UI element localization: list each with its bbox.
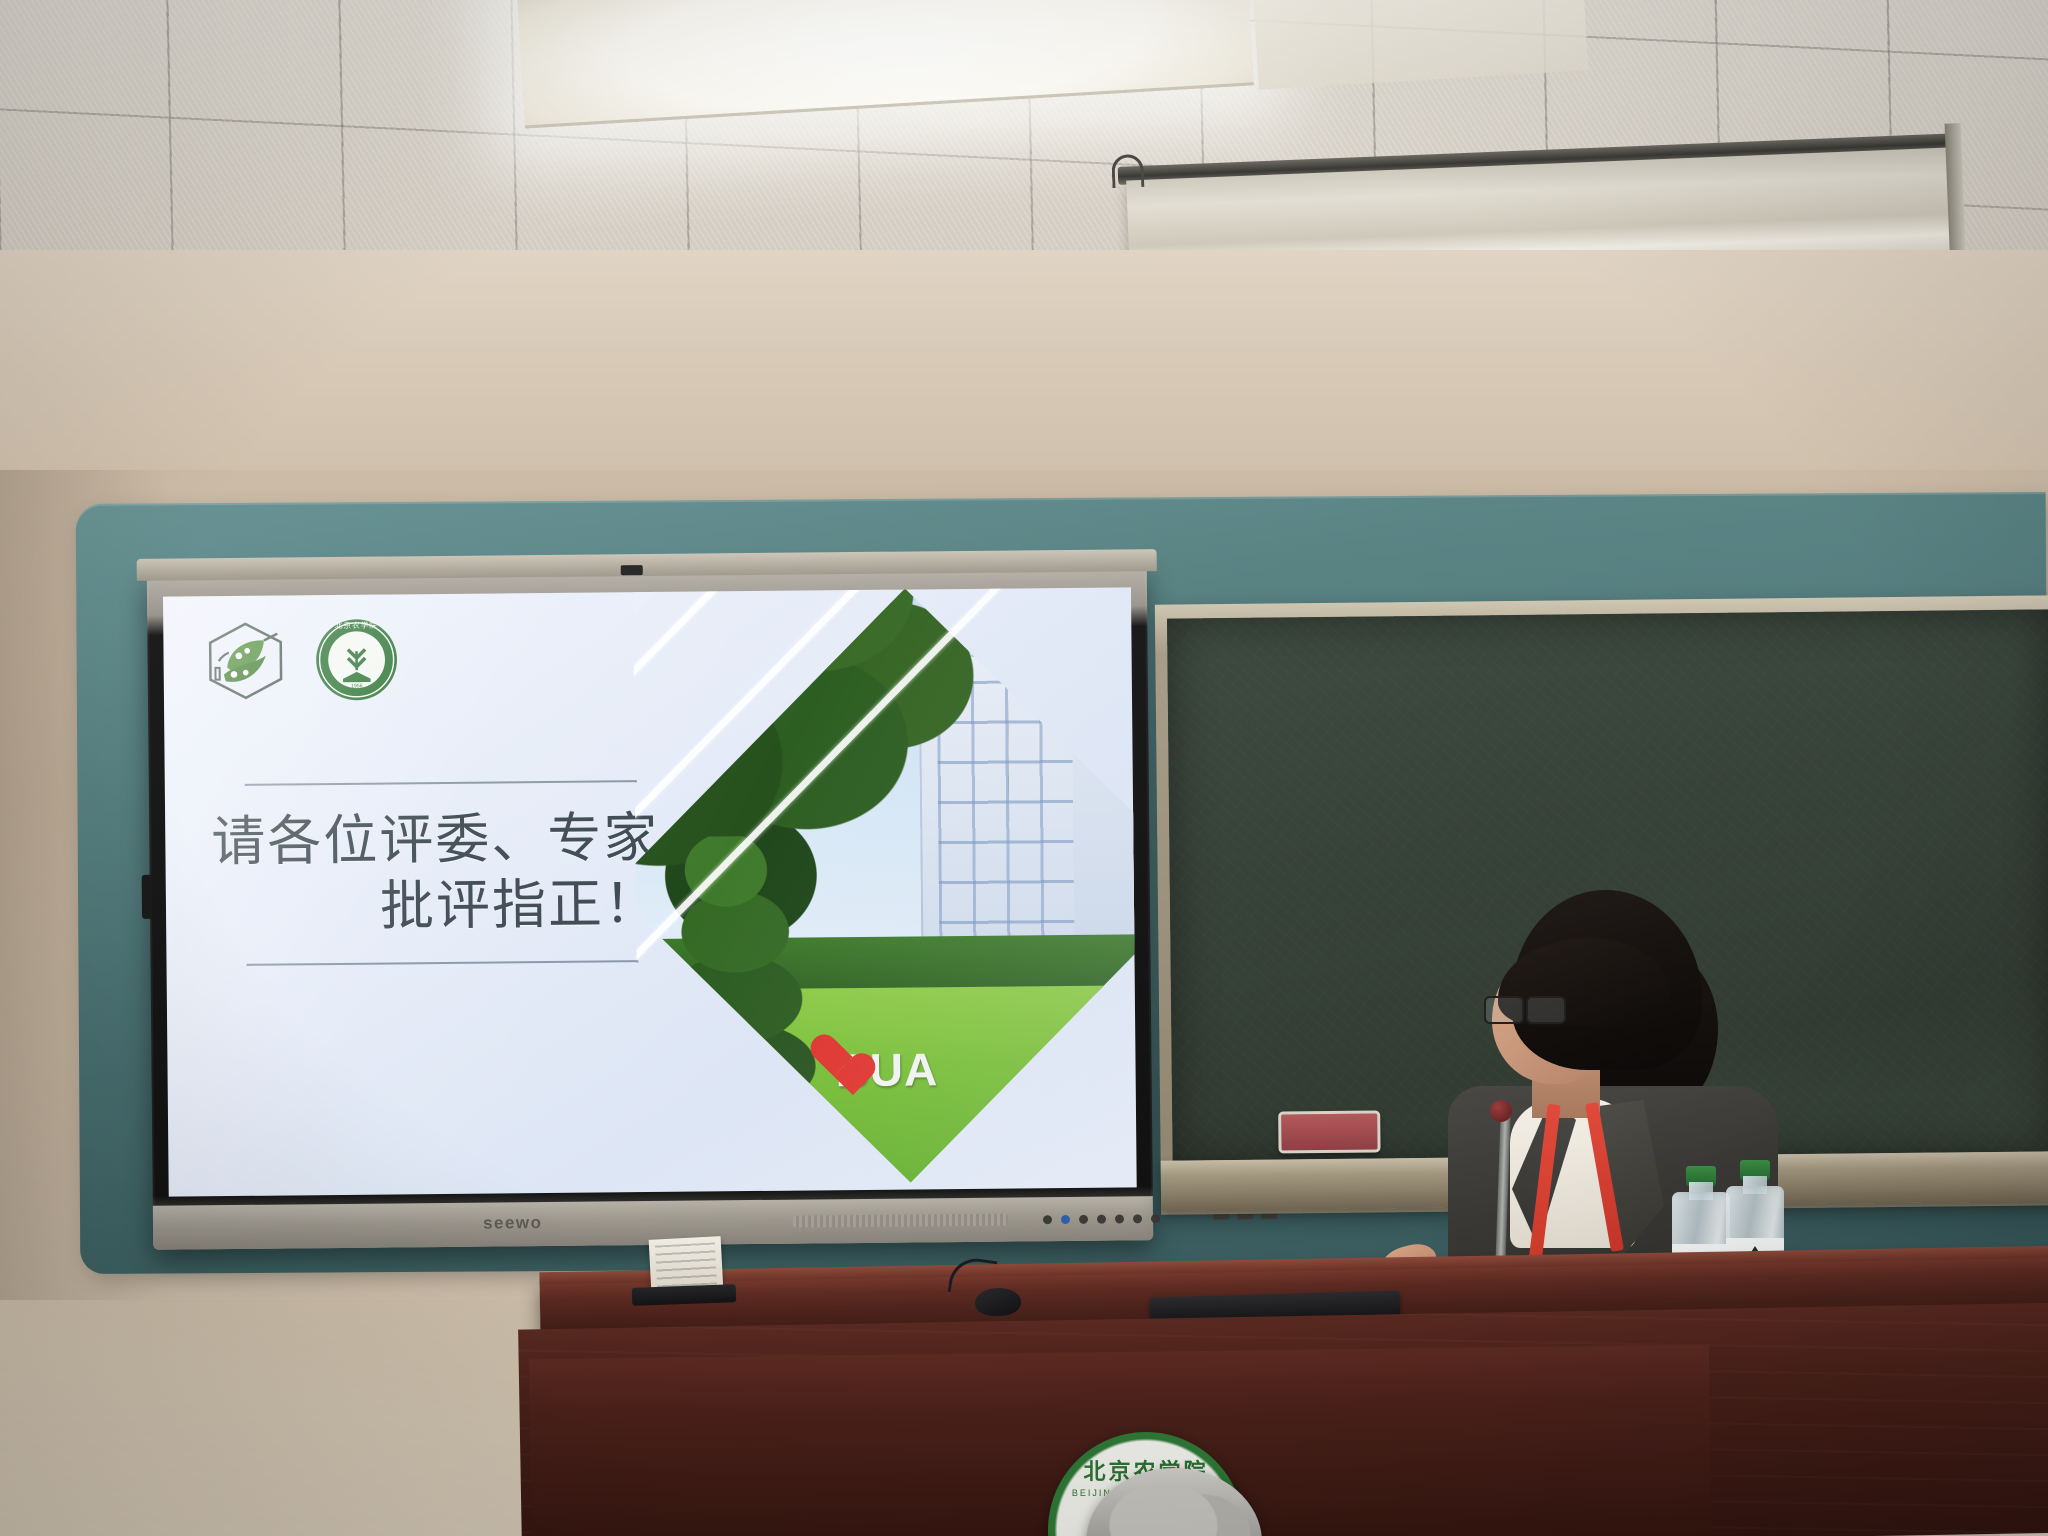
slide-rule-bottom [247,960,639,966]
name-card-lines [655,1242,717,1287]
button-indicator[interactable] [1061,1215,1070,1224]
sign-letter-i: I [769,1044,783,1098]
photo-diamond-crop: I BUA [633,589,1137,1183]
classroom-scene: 1956 北京农学院 请各位评委、专家 批评指正！ [0,0,2048,1536]
leaf-in-hand-hexagon-icon [203,618,288,703]
button-power[interactable] [1043,1215,1052,1224]
display-side-button[interactable] [142,875,152,919]
port-usb-1[interactable] [1213,1213,1229,1219]
glasses-lens-right [1526,996,1566,1024]
university-seal-icon: 1956 北京农学院 [313,616,400,703]
slide-headline-line-1: 请各位评委、专家 [203,806,674,876]
display-screen[interactable]: 1956 北京农学院 请各位评委、专家 批评指正！ [163,587,1137,1196]
button-vol-down[interactable] [1097,1215,1106,1224]
slide-rule-top [245,780,637,786]
computer-mouse[interactable] [975,1287,1022,1317]
glasses-icon [1484,996,1568,1022]
display-control-buttons[interactable] [1043,1214,1160,1224]
button-home[interactable] [1151,1214,1160,1223]
microphone-head-icon [1490,1100,1512,1122]
slide-photo-collage: I BUA [633,587,1137,1196]
campus-photo: I BUA [633,589,1137,1183]
heart-sculpture-icon [807,1036,859,1084]
interactive-display[interactable]: 1956 北京农学院 请各位评委、专家 批评指正！ [147,565,1153,1250]
glasses-lens-left [1484,996,1524,1024]
slide-logos: 1956 北京农学院 [203,616,400,704]
seal-year: 1956 [351,683,363,689]
port-usb-2[interactable] [1237,1213,1253,1219]
button-menu[interactable] [1079,1215,1088,1224]
button-source[interactable] [1133,1214,1142,1223]
speaker-grille [793,1214,1008,1228]
roller-hook-icon [1111,154,1144,188]
board-eraser[interactable] [1278,1110,1380,1153]
slide-headline-line-2: 批评指正！ [204,872,675,942]
slide-headline-block: 请各位评委、专家 批评指正！ [203,780,675,966]
svg-text:北京农学院: 北京农学院 [335,620,378,630]
wall-lower-left [0,1300,540,1536]
camera-icon [621,565,643,575]
name-card-stand [632,1284,737,1306]
seewo-brand-label: seewo [483,1213,543,1234]
port-hdmi[interactable] [1261,1213,1277,1219]
button-vol-up[interactable] [1115,1214,1124,1223]
